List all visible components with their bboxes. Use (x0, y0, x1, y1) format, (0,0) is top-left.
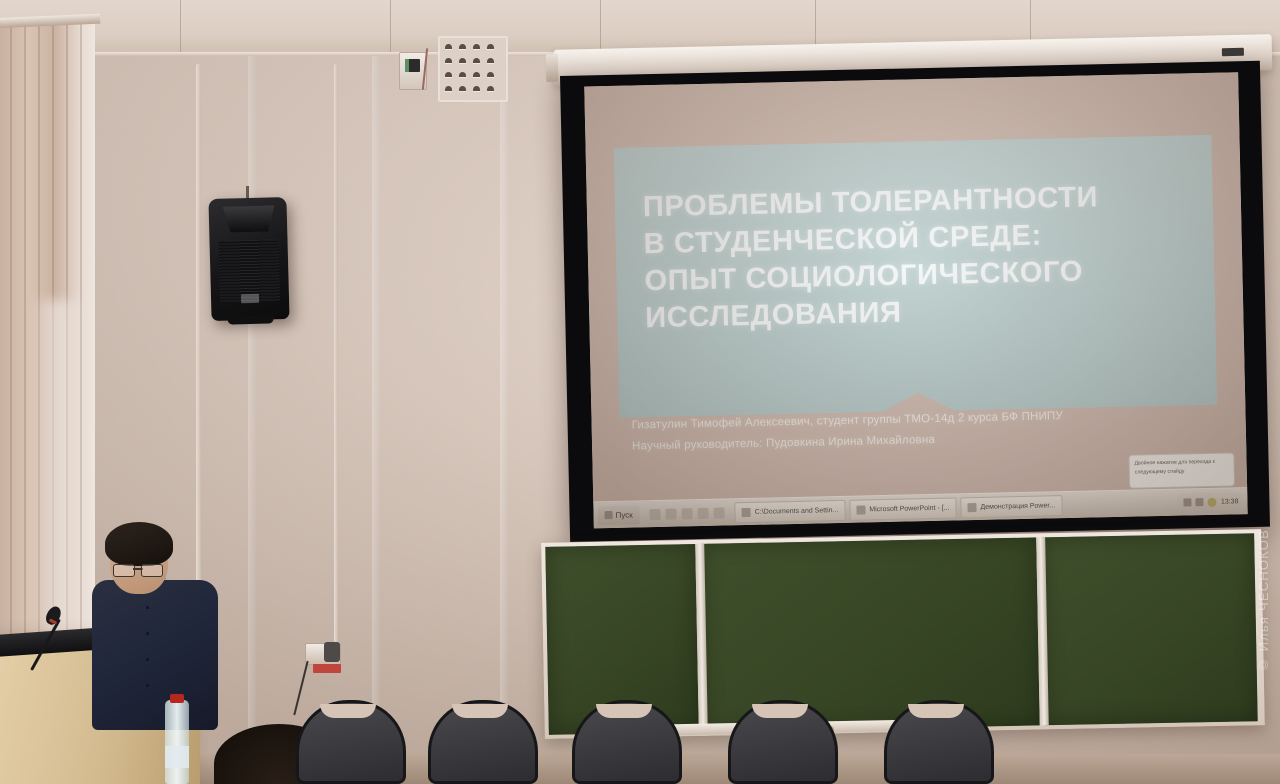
presenter (86, 528, 224, 728)
water-bottle (165, 700, 189, 784)
tray-clock[interactable]: 13:38 (1221, 498, 1239, 505)
taskbar-item-explorer[interactable]: C:\Documents and Settin... (735, 499, 846, 522)
folder-icon[interactable] (698, 507, 709, 518)
quick-launch-bar[interactable] (644, 507, 731, 520)
taskbar-item-slideshow[interactable]: Демонстрация Power... (960, 495, 1062, 518)
bottle-cap (170, 694, 184, 703)
display-icon[interactable] (1184, 498, 1192, 506)
show-desktop-icon[interactable] (650, 508, 661, 519)
presenter-shirt-buttons (146, 606, 149, 698)
folder-icon (742, 507, 751, 516)
slideshow-tooltip-balloon: Двойное нажатие для перехода к следующем… (1128, 452, 1235, 488)
wall-power-outlet (305, 643, 341, 665)
chair (296, 706, 400, 784)
chair (572, 706, 676, 784)
chair (884, 706, 988, 784)
system-tray[interactable]: 13:38 (1179, 492, 1244, 512)
chair (428, 706, 532, 784)
bottle-label (165, 746, 189, 768)
taskbar-item-label: C:\Documents and Settin... (755, 507, 839, 516)
window-icon[interactable] (714, 507, 725, 518)
windows-flag-icon (605, 511, 613, 519)
pa-speaker (208, 197, 289, 321)
speaker-horn (223, 205, 276, 232)
powerpoint-icon (856, 505, 865, 514)
taskbar-item-label: Microsoft PowerPoint - [... (869, 504, 949, 513)
slideshow-icon (967, 503, 976, 512)
slide-title: ПРОБЛЕМЫ ТОЛЕРАНТНОСТИ В СТУДЕНЧЕСКОЙ СР… (642, 177, 1205, 338)
chair (728, 706, 832, 784)
ventilation-grille (438, 36, 508, 102)
speaker-logo (241, 294, 259, 303)
browser-icon[interactable] (666, 508, 677, 519)
presenter-glasses (113, 564, 163, 575)
volume-icon[interactable] (1208, 497, 1217, 506)
network-icon[interactable] (1196, 498, 1204, 506)
taskbar-item-powerpoint[interactable]: Microsoft PowerPoint - [... (849, 497, 957, 520)
media-icon[interactable] (682, 508, 693, 519)
outlet-warning-label (313, 664, 341, 673)
start-button[interactable]: Пуск (597, 505, 640, 525)
taskbar-item-label: Демонстрация Power... (980, 502, 1055, 511)
presenter-hair (105, 522, 173, 566)
watermark-photographer: © Илья ЧЕСНОКОВ (1256, 529, 1278, 672)
powerpoint-slide: ПРОБЛЕМЫ ТОЛЕРАНТНОСТИ В СТУДЕНЧЕСКОЙ СР… (584, 72, 1247, 501)
projection-screen-frame: ПРОБЛЕМЫ ТОЛЕРАНТНОСТИ В СТУДЕНЧЕСКОЙ СР… (560, 61, 1270, 542)
photo-scene: ПРОБЛЕМЫ ТОЛЕРАНТНОСТИ В СТУДЕНЧЕСКОЙ СР… (0, 0, 1280, 784)
chalkboard-panel-center (700, 537, 1040, 731)
wall-conduit-right (334, 64, 338, 664)
chalkboard-panel-right (1041, 533, 1258, 725)
start-button-label: Пуск (615, 510, 632, 519)
projection-surface: ПРОБЛЕМЫ ТОЛЕРАНТНОСТИ В СТУДЕНЧЕСКОЙ СР… (584, 72, 1247, 528)
presenter-torso (92, 580, 218, 730)
